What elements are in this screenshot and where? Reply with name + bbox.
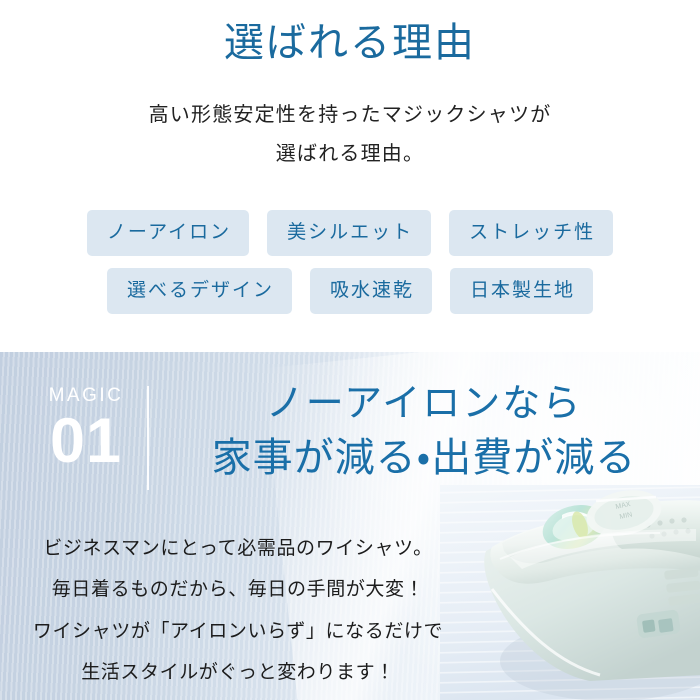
badge-selectable-design[interactable]: 選べるデザイン <box>107 268 292 314</box>
magic-eyebrow: MAGIC <box>34 386 138 405</box>
promo-page: 選ばれる理由 高い形態安定性を持ったマジックシャツが 選ばれる理由。 ノーアイロ… <box>0 0 700 700</box>
lead-paragraph: 高い形態安定性を持ったマジックシャツが 選ばれる理由。 <box>0 96 700 174</box>
badge-quick-dry[interactable]: 吸水速乾 <box>310 268 432 314</box>
badge-beautiful-silhouette[interactable]: 美シルエット <box>267 210 431 256</box>
body-copy-line-4: 生活スタイルがぐっと変わります！ <box>14 652 462 693</box>
reasons-section: 選ばれる理由 高い形態安定性を持ったマジックシャツが 選ばれる理由。 ノーアイロ… <box>0 0 700 352</box>
badge-japan-fabric[interactable]: 日本製生地 <box>450 268 593 314</box>
body-copy-line-2: 毎日着るものだから、毎日の手間が大変！ <box>14 569 462 610</box>
badge-no-iron[interactable]: ノーアイロン <box>87 210 249 256</box>
feature-badge-row-2: 選べるデザイン 吸水速乾 日本製生地 <box>0 268 700 314</box>
magic-headline-line-2: 家事が減る・出費が減る <box>160 430 688 485</box>
magic-headline: ノーアイロンなら 家事が減る・出費が減る <box>160 378 688 486</box>
body-copy-line-1: ビジネスマンにとって必需品のワイシャツ。 <box>14 528 462 569</box>
badge-stretch[interactable]: ストレッチ性 <box>449 210 613 256</box>
magic-headline-line-1: ノーアイロンなら <box>160 378 688 430</box>
lead-line-1: 高い形態安定性を持ったマジックシャツが <box>0 96 700 135</box>
lead-line-2: 選ばれる理由。 <box>0 135 700 174</box>
feature-badge-group: ノーアイロン 美シルエット ストレッチ性 選べるデザイン 吸水速乾 日本製生地 <box>0 210 700 326</box>
magic-number: 01 <box>34 409 138 473</box>
magic-divider <box>147 386 149 490</box>
feature-badge-row-1: ノーアイロン 美シルエット ストレッチ性 <box>0 210 700 256</box>
body-copy-line-3: ワイシャツが「アイロンいらず」になるだけで <box>14 611 462 652</box>
page-title: 選ばれる理由 <box>0 18 700 68</box>
body-copy: ビジネスマンにとって必需品のワイシャツ。 毎日着るものだから、毎日の手間が大変！… <box>14 528 462 694</box>
magic-label-block: MAGIC 01 <box>34 386 138 473</box>
